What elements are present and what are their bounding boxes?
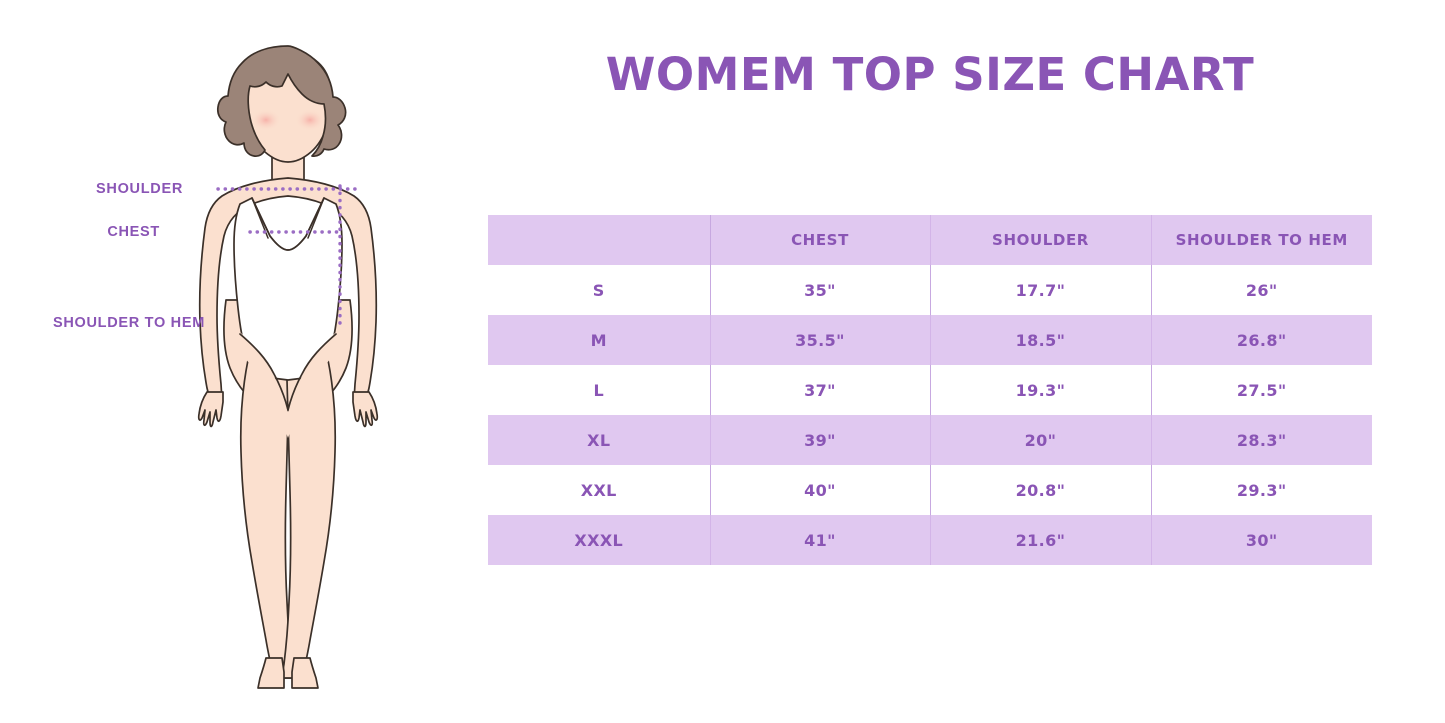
cell-size: XXL [488,465,710,515]
cell-shoulder: 19.3" [930,365,1151,415]
header-cell-shoulder: SHOULDER [930,215,1151,265]
cell-shoulder-to-hem: 30" [1151,515,1372,565]
table-header: CHEST SHOULDER SHOULDER TO HEM [488,215,1372,265]
cell-shoulder: 18.5" [930,315,1151,365]
cell-shoulder-to-hem: 26.8" [1151,315,1372,365]
size-chart-table-container: CHEST SHOULDER SHOULDER TO HEM S 35" 17.… [488,215,1372,565]
cell-size: S [488,265,710,315]
table-row: S 35" 17.7" 26" [488,265,1372,315]
label-shoulder: SHOULDER [96,181,183,197]
cell-shoulder-to-hem: 28.3" [1151,415,1372,465]
header-cell-chest: CHEST [710,215,930,265]
cell-shoulder-to-hem: 29.3" [1151,465,1372,515]
cell-size: XL [488,415,710,465]
table-row: L 37" 19.3" 27.5" [488,365,1372,415]
right-blush [295,109,325,131]
table-row: XXXL 41" 21.6" 30" [488,515,1372,565]
cell-shoulder: 21.6" [930,515,1151,565]
right-hand-shape [353,392,377,427]
cell-size: XXXL [488,515,710,565]
figure-illustration [0,0,470,723]
cell-shoulder-to-hem: 26" [1151,265,1372,315]
label-chest: CHEST [107,224,160,240]
header-row: CHEST SHOULDER SHOULDER TO HEM [488,215,1372,265]
cell-size: L [488,365,710,415]
cell-chest: 41" [710,515,930,565]
left-foot-shape [258,658,284,688]
cell-size: M [488,315,710,365]
body-figure-svg [0,0,470,723]
label-shoulder-to-hem: SHOULDER TO HEM [53,315,205,331]
cell-shoulder-to-hem: 27.5" [1151,365,1372,415]
cell-shoulder: 20.8" [930,465,1151,515]
cell-chest: 39" [710,415,930,465]
cell-chest: 35" [710,265,930,315]
cell-chest: 37" [710,365,930,415]
cell-shoulder: 17.7" [930,265,1151,315]
cell-chest: 35.5" [710,315,930,365]
cell-chest: 40" [710,465,930,515]
right-foot-shape [292,658,318,688]
header-cell-size [488,215,710,265]
left-blush [251,109,281,131]
table-row: M 35.5" 18.5" 26.8" [488,315,1372,365]
page-title: WOMEM TOP SIZE CHART [470,48,1390,101]
table-body: S 35" 17.7" 26" M 35.5" 18.5" 26.8" L 37… [488,265,1372,565]
cell-shoulder: 20" [930,415,1151,465]
table-row: XL 39" 20" 28.3" [488,415,1372,465]
table-row: XXL 40" 20.8" 29.3" [488,465,1372,515]
size-chart-table: CHEST SHOULDER SHOULDER TO HEM S 35" 17.… [488,215,1372,565]
header-cell-shoulder-to-hem: SHOULDER TO HEM [1151,215,1372,265]
left-hand-shape [199,392,223,427]
